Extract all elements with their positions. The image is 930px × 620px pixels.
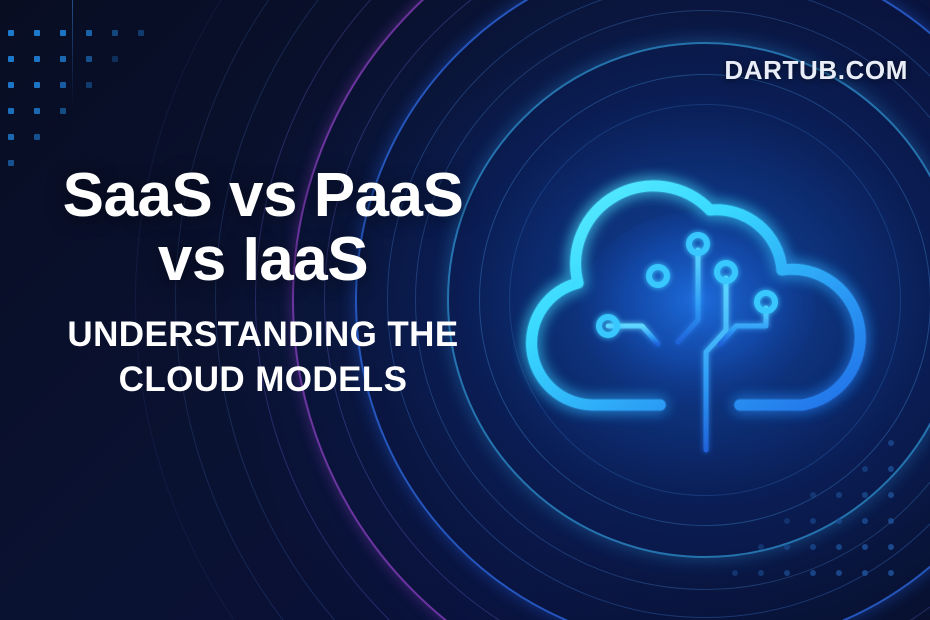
title-line-2: vs IaaS — [28, 228, 498, 292]
subtitle-line-1: UNDERSTANDING THE — [28, 313, 498, 358]
accent-line — [72, 0, 73, 105]
page-subtitle: UNDERSTANDING THE CLOUD MODELS — [28, 313, 498, 403]
promo-banner: DARTUB.COM SaaS vs PaaS vs IaaS UNDERSTA… — [0, 0, 930, 620]
headline-group: SaaS vs PaaS vs IaaS UNDERSTANDING THE C… — [28, 164, 498, 403]
page-title: SaaS vs PaaS vs IaaS — [28, 164, 498, 293]
brand-watermark: DARTUB.COM — [724, 55, 908, 86]
title-line-1: SaaS vs PaaS — [28, 164, 498, 228]
dot-grid-bottom-right — [732, 440, 914, 596]
subtitle-line-2: CLOUD MODELS — [28, 358, 498, 403]
cloud-circuit-icon — [530, 130, 870, 460]
